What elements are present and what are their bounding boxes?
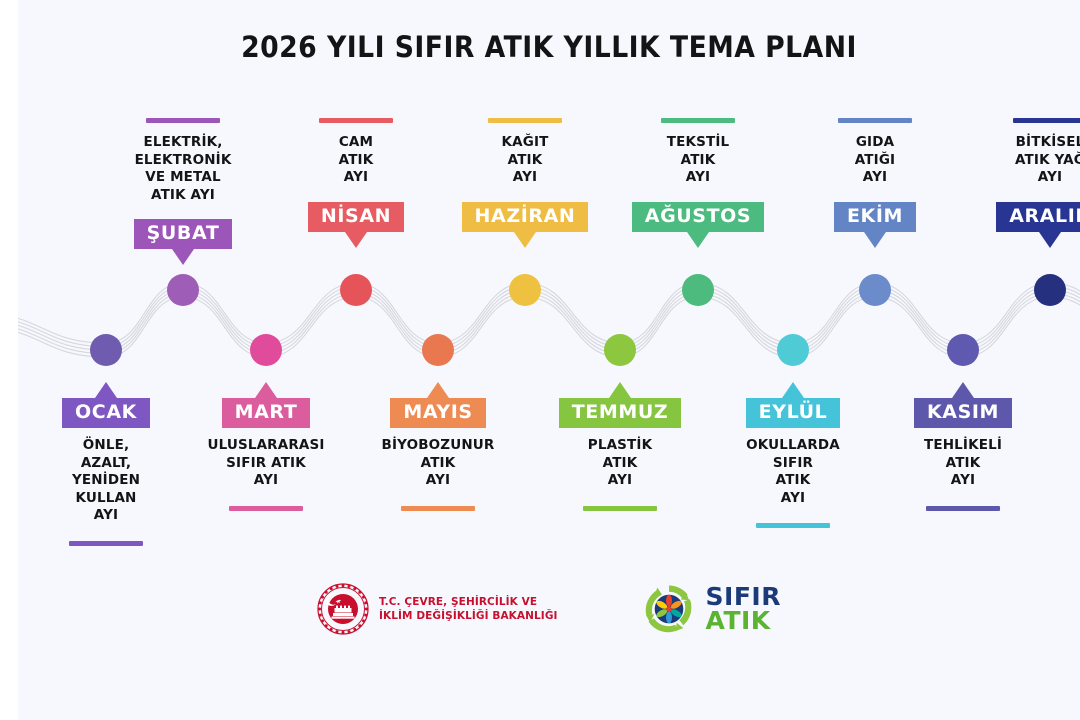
timeline-month-kasim: KASIMTEHLİKELİ ATIK AYI <box>893 398 1033 511</box>
timeline-month-ocak: OCAKÖNLE, AZALT, YENİDEN KULLAN AYI <box>36 398 176 546</box>
timeline-month-eki̇m: GIDA ATIĞI AYIEKİM <box>805 118 945 232</box>
month-accent-bar <box>583 506 657 511</box>
timeline-month-hazi̇ran: KAĞIT ATIK AYIHAZİRAN <box>455 118 595 232</box>
month-accent-bar <box>69 541 143 546</box>
month-accent-bar <box>488 118 562 123</box>
month-theme-label: PLASTİK ATIK AYI <box>550 437 690 490</box>
footer-logos: T.C. ÇEVRE, ŞEHİRCİLİK VE İKLİM DEĞİŞİKL… <box>18 582 1080 636</box>
ministry-logo: T.C. ÇEVRE, ŞEHİRCİLİK VE İKLİM DEĞİŞİKL… <box>317 583 558 635</box>
month-chip[interactable]: EKİM <box>834 202 916 232</box>
month-name-label: OCAK <box>62 398 150 428</box>
month-chip-pointer <box>345 232 367 248</box>
timeline-month-aralik: BİTKİSEL ATIK YAĞ AYIARALIK <box>980 118 1080 232</box>
timeline-month-ni̇san: CAM ATIK AYINİSAN <box>286 118 426 232</box>
timeline-wave <box>18 258 1080 388</box>
timeline-month-mayis: MAYISBİYOBOZUNUR ATIK AYI <box>368 398 508 511</box>
wave-line <box>18 297 1080 357</box>
month-name-label: HAZİRAN <box>462 202 589 232</box>
month-theme-label: KAĞIT ATIK AYI <box>455 134 595 187</box>
month-theme-label: OKULLARDA SIFIR ATIK AYI <box>723 437 863 507</box>
month-chip[interactable]: HAZİRAN <box>462 202 589 232</box>
timeline-month-şubat: ELEKTRİK, ELEKTRONİK VE METAL ATIK AYIŞU… <box>113 118 253 249</box>
month-chip[interactable]: ŞUBAT <box>134 219 233 249</box>
month-accent-bar <box>756 523 830 528</box>
month-accent-bar <box>319 118 393 123</box>
poster-canvas: 2026 YILI SIFIR ATIK YILLIK TEMA PLANI O… <box>18 0 1080 720</box>
month-chip[interactable]: ARALIK <box>996 202 1080 232</box>
month-chip-pointer <box>172 249 194 265</box>
month-name-label: EYLÜL <box>746 398 841 428</box>
month-accent-bar <box>838 118 912 123</box>
month-name-label: NİSAN <box>308 202 404 232</box>
month-name-label: TEMMUZ <box>559 398 682 428</box>
month-accent-bar <box>661 118 735 123</box>
wave-node-eki̇m[interactable] <box>859 274 891 306</box>
wave-node-kasim[interactable] <box>947 334 979 366</box>
zero-waste-logo: SIFIR ATIK <box>642 582 781 636</box>
month-chip-pointer <box>95 382 117 398</box>
month-theme-label: ÖNLE, AZALT, YENİDEN KULLAN AYI <box>36 437 176 525</box>
zero-waste-logo-text: SIFIR ATIK <box>706 585 781 633</box>
wave-node-ni̇san[interactable] <box>340 274 372 306</box>
month-theme-label: ELEKTRİK, ELEKTRONİK VE METAL ATIK AYI <box>113 134 253 204</box>
wave-node-şubat[interactable] <box>167 274 199 306</box>
month-name-label: ARALIK <box>996 202 1080 232</box>
month-accent-bar <box>229 506 303 511</box>
month-theme-label: ULUSLARARASI SIFIR ATIK AYI <box>196 437 336 490</box>
month-theme-label: CAM ATIK AYI <box>286 134 426 187</box>
month-chip[interactable]: AĞUSTOS <box>632 202 764 232</box>
month-chip[interactable]: EYLÜL <box>746 398 841 428</box>
month-accent-bar <box>1013 118 1080 123</box>
month-chip[interactable]: NİSAN <box>308 202 404 232</box>
timeline-month-temmuz: TEMMUZPLASTİK ATIK AYI <box>550 398 690 511</box>
month-chip-pointer <box>609 382 631 398</box>
ministry-logo-line2: İKLİM DEĞİŞİKLİĞİ BAKANLIĞI <box>379 609 558 623</box>
month-chip-pointer <box>864 232 886 248</box>
wave-node-hazi̇ran[interactable] <box>509 274 541 306</box>
month-chip-pointer <box>514 232 536 248</box>
month-name-label: AĞUSTOS <box>632 202 764 232</box>
month-name-label: MAYIS <box>390 398 485 428</box>
ministry-logo-line1: T.C. ÇEVRE, ŞEHİRCİLİK VE <box>379 595 558 609</box>
page-title: 2026 YILI SIFIR ATIK YILLIK TEMA PLANI <box>60 30 1037 64</box>
month-chip-pointer <box>427 382 449 398</box>
month-chip-pointer <box>687 232 709 248</box>
month-chip-pointer <box>1039 232 1061 248</box>
ministry-logo-text: T.C. ÇEVRE, ŞEHİRCİLİK VE İKLİM DEĞİŞİKL… <box>379 595 558 623</box>
zero-waste-line2: ATIK <box>706 609 781 633</box>
month-chip-pointer <box>782 382 804 398</box>
month-chip-pointer <box>255 382 277 398</box>
month-name-label: MART <box>222 398 311 428</box>
month-name-label: EKİM <box>834 202 916 232</box>
zero-waste-recycle-flower-icon <box>642 582 696 636</box>
month-name-label: KASIM <box>914 398 1012 428</box>
wave-node-eylül[interactable] <box>777 334 809 366</box>
wave-node-temmuz[interactable] <box>604 334 636 366</box>
wave-node-aralik[interactable] <box>1034 274 1066 306</box>
wave-node-ocak[interactable] <box>90 334 122 366</box>
month-theme-label: BİYOBOZUNUR ATIK AYI <box>368 437 508 490</box>
month-chip-pointer <box>952 382 974 398</box>
turkish-ministry-emblem-icon <box>317 583 369 635</box>
wave-node-mayis[interactable] <box>422 334 454 366</box>
month-chip[interactable]: KASIM <box>914 398 1012 428</box>
month-accent-bar <box>401 506 475 511</box>
timeline-month-mart: MARTULUSLARARASI SIFIR ATIK AYI <box>196 398 336 511</box>
month-name-label: ŞUBAT <box>134 219 233 249</box>
month-chip[interactable]: TEMMUZ <box>559 398 682 428</box>
month-accent-bar <box>926 506 1000 511</box>
month-chip[interactable]: MAYIS <box>390 398 485 428</box>
month-chip[interactable]: MART <box>222 398 311 428</box>
month-theme-label: GIDA ATIĞI AYI <box>805 134 945 187</box>
month-theme-label: TEHLİKELİ ATIK AYI <box>893 437 1033 490</box>
timeline-month-eylül: EYLÜLOKULLARDA SIFIR ATIK AYI <box>723 398 863 528</box>
wave-node-ağustos[interactable] <box>682 274 714 306</box>
month-theme-label: TEKSTİL ATIK AYI <box>628 134 768 187</box>
timeline-month-ağustos: TEKSTİL ATIK AYIAĞUSTOS <box>628 118 768 232</box>
month-theme-label: BİTKİSEL ATIK YAĞ AYI <box>980 134 1080 187</box>
wave-node-mart[interactable] <box>250 334 282 366</box>
month-chip[interactable]: OCAK <box>62 398 150 428</box>
month-accent-bar <box>146 118 220 123</box>
